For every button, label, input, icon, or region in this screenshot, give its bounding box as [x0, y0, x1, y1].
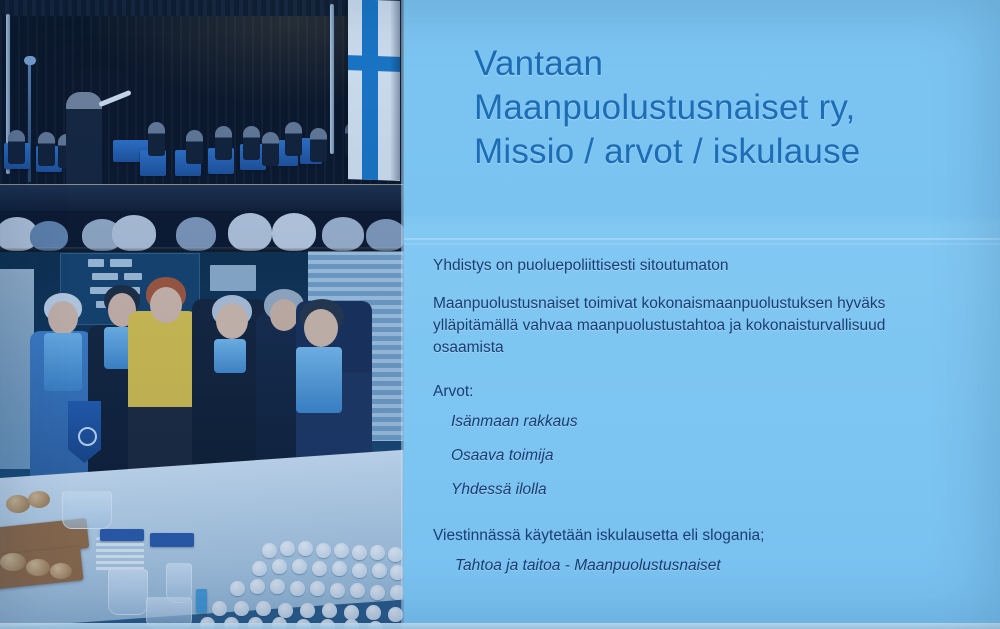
coffee-cup [316, 543, 331, 558]
musician [186, 130, 203, 164]
musician [243, 126, 260, 160]
mission-line-3: osaamista [433, 337, 1000, 359]
coffee-cup [298, 541, 313, 556]
plate-stack [96, 537, 144, 573]
glass-pitcher [108, 569, 148, 615]
photo-column [0, 0, 404, 629]
musician [215, 126, 232, 160]
head [270, 299, 298, 331]
stage-curtain [0, 0, 404, 205]
head [304, 309, 338, 347]
musician [310, 128, 327, 162]
coffee-cup [280, 541, 295, 556]
flagpole-right [330, 4, 334, 154]
coffee-cup [352, 563, 367, 578]
spacer [433, 513, 1000, 525]
pastry [28, 491, 50, 508]
coffee-cup [352, 545, 367, 560]
conductor [66, 92, 102, 197]
concert-photo [0, 0, 404, 251]
blue-scarf [214, 339, 246, 373]
coffee-cup [290, 581, 305, 596]
statement-text: Yhdistys on puoluepoliittisesti sitoutum… [433, 255, 1000, 277]
audience-head [228, 213, 272, 251]
slogan-text: Tahtoa ja taitoa - Maanpuolustusnaiset [433, 555, 1000, 577]
slogan-heading: Viestinnässä käytetään iskulausetta eli … [433, 525, 1000, 547]
coffee-cup [292, 559, 307, 574]
audience-head [176, 217, 216, 251]
screen-bottom-edge [0, 623, 1000, 629]
coffee-cup [230, 581, 245, 596]
coffee-cup [250, 579, 265, 594]
musician [38, 132, 55, 166]
group-photo [0, 251, 404, 629]
musician [148, 122, 165, 156]
slide-screenshot: Vantaan Maanpuolustusnaiset ry, Missio /… [0, 0, 1000, 629]
window-left [0, 269, 34, 469]
value-item: Yhdessä ilolla [433, 479, 1000, 501]
mission-line-1: Maanpuolustusnaiset toimivat kokonaismaa… [433, 293, 1000, 315]
musician [285, 122, 302, 156]
coffee-cup [312, 561, 327, 576]
microphone-head [24, 56, 36, 65]
presentation-slide: Vantaan Maanpuolustusnaiset ry, Missio /… [404, 0, 1000, 629]
slide-title: Vantaan Maanpuolustusnaiset ry, Missio /… [474, 42, 994, 174]
coffee-cup [330, 583, 345, 598]
stage-floor [0, 185, 404, 211]
coffee-cup [278, 603, 293, 618]
slide-title-line-3: Missio / arvot / iskulause [474, 130, 994, 174]
blue-scarf [44, 333, 82, 391]
mission-paragraph: Maanpuolustusnaiset toimivat kokonaismaa… [433, 293, 1000, 359]
photo-column-edge [401, 0, 404, 629]
notice-paper [92, 273, 118, 280]
coffee-cup [310, 581, 325, 596]
musician [8, 130, 25, 164]
coffee-cup [252, 561, 267, 576]
coffee-cup [332, 561, 347, 576]
slide-band-seam [404, 243, 1000, 245]
coffee-cup [350, 583, 365, 598]
curtain-valance [0, 0, 404, 16]
coffee-cup [344, 605, 359, 620]
blue-scarf [296, 347, 342, 413]
coffee-cup [256, 601, 271, 616]
mission-line-2: ylläpitämällä vahvaa maanpuolustustahtoa… [433, 315, 1000, 337]
napkin-stack [150, 533, 194, 547]
pastry [6, 495, 30, 513]
head [150, 287, 182, 323]
coffee-cup [300, 603, 315, 618]
value-item: Isänmaan rakkaus [433, 411, 1000, 433]
notice-paper [110, 259, 132, 267]
coffee-cup [322, 603, 337, 618]
slide-title-line-2: Maanpuolustusnaiset ry, [474, 86, 994, 130]
slide-band-seam [404, 238, 1000, 240]
pastry [26, 559, 50, 576]
coffee-cup [366, 605, 381, 620]
coffee-cup [234, 601, 249, 616]
napkin-stack [100, 529, 144, 541]
slide-body: Yhdistys on puoluepoliittisesti sitoutum… [433, 255, 1000, 577]
notice-paper [210, 265, 256, 291]
pastry [0, 553, 26, 571]
musician [262, 132, 279, 166]
snack-bowl [62, 491, 112, 529]
coffee-cup [270, 579, 285, 594]
notice-paper [88, 259, 104, 267]
coffee-cup [212, 601, 227, 616]
coffee-cup [372, 563, 387, 578]
audience-head [272, 213, 316, 251]
values-heading: Arvot: [433, 381, 1000, 403]
head [48, 301, 78, 335]
slide-title-line-1: Vantaan [474, 42, 994, 86]
head [216, 303, 248, 339]
blue-marker [196, 589, 207, 613]
audience-head [112, 215, 156, 251]
notice-paper [124, 273, 142, 280]
value-item: Osaava toimija [433, 445, 1000, 467]
coffee-cup [334, 543, 349, 558]
coffee-cup [370, 545, 385, 560]
pennant-emblem-icon [78, 427, 97, 446]
photo-divider [0, 247, 404, 252]
spacer [433, 359, 1000, 381]
coffee-cup [272, 559, 287, 574]
pastry [50, 563, 72, 579]
coffee-cup [262, 543, 277, 558]
audience-head [322, 217, 364, 251]
coffee-cup [370, 585, 385, 600]
